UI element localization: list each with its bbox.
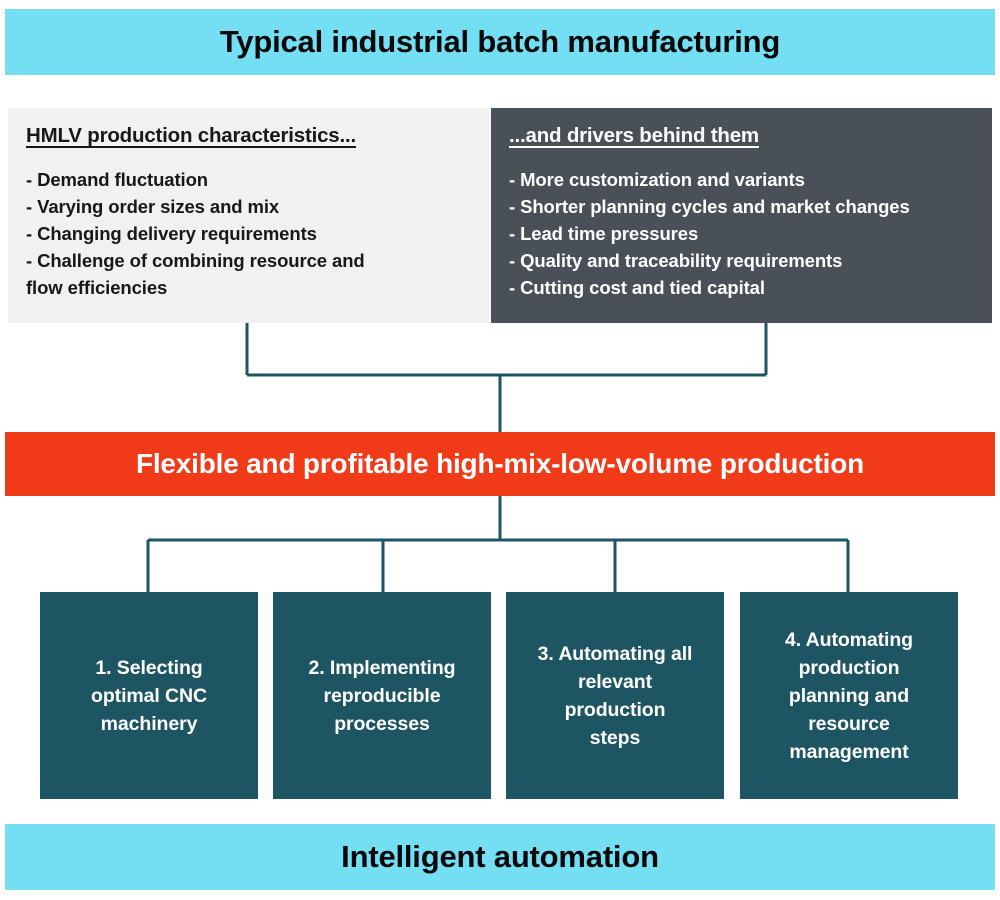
outcome-banner: Flexible and profitable high-mix-low-vol…	[5, 432, 995, 496]
step-box-1: 1. Selecting optimal CNC machinery	[40, 592, 258, 799]
list-item: - Challenge of combining resource and fl…	[26, 247, 471, 301]
list-item: - Varying order sizes and mix	[26, 193, 471, 220]
step-box-2: 2. Implementing reproducible processes	[273, 592, 491, 799]
step-box-3-label: 3. Automating all relevant production st…	[538, 640, 693, 752]
step-box-2-label: 2. Implementing reproducible processes	[309, 654, 456, 738]
panel-left-heading: HMLV production characteristics...	[26, 124, 471, 148]
panel-drivers: ...and drivers behind them - More custom…	[491, 108, 992, 323]
footer-banner: Intelligent automation	[5, 824, 995, 890]
outcome-title: Flexible and profitable high-mix-low-vol…	[136, 448, 864, 480]
footer-title: Intelligent automation	[341, 839, 659, 875]
header-banner: Typical industrial batch manufacturing	[5, 9, 995, 75]
panel-right-list: - More customization and variants - Shor…	[509, 166, 974, 301]
list-item: - Lead time pressures	[509, 220, 974, 247]
step-box-4-label: 4. Automating production planning and re…	[785, 626, 913, 766]
step-box-3: 3. Automating all relevant production st…	[506, 592, 724, 799]
list-item: - Demand fluctuation	[26, 166, 471, 193]
step-box-4: 4. Automating production planning and re…	[740, 592, 958, 799]
list-item: - Shorter planning cycles and market cha…	[509, 193, 974, 220]
page-title: Typical industrial batch manufacturing	[220, 24, 780, 60]
list-item: - More customization and variants	[509, 166, 974, 193]
list-item: - Cutting cost and tied capital	[509, 274, 974, 301]
diagram-canvas: Typical industrial batch manufacturing H…	[0, 0, 1000, 900]
panel-left-list: - Demand fluctuation - Varying order siz…	[26, 166, 471, 301]
list-item: - Changing delivery requirements	[26, 220, 471, 247]
list-item: - Quality and traceability requirements	[509, 247, 974, 274]
step-box-1-label: 1. Selecting optimal CNC machinery	[91, 654, 207, 738]
panel-right-heading: ...and drivers behind them	[509, 124, 974, 148]
panel-hmlv-characteristics: HMLV production characteristics... - Dem…	[8, 108, 489, 323]
